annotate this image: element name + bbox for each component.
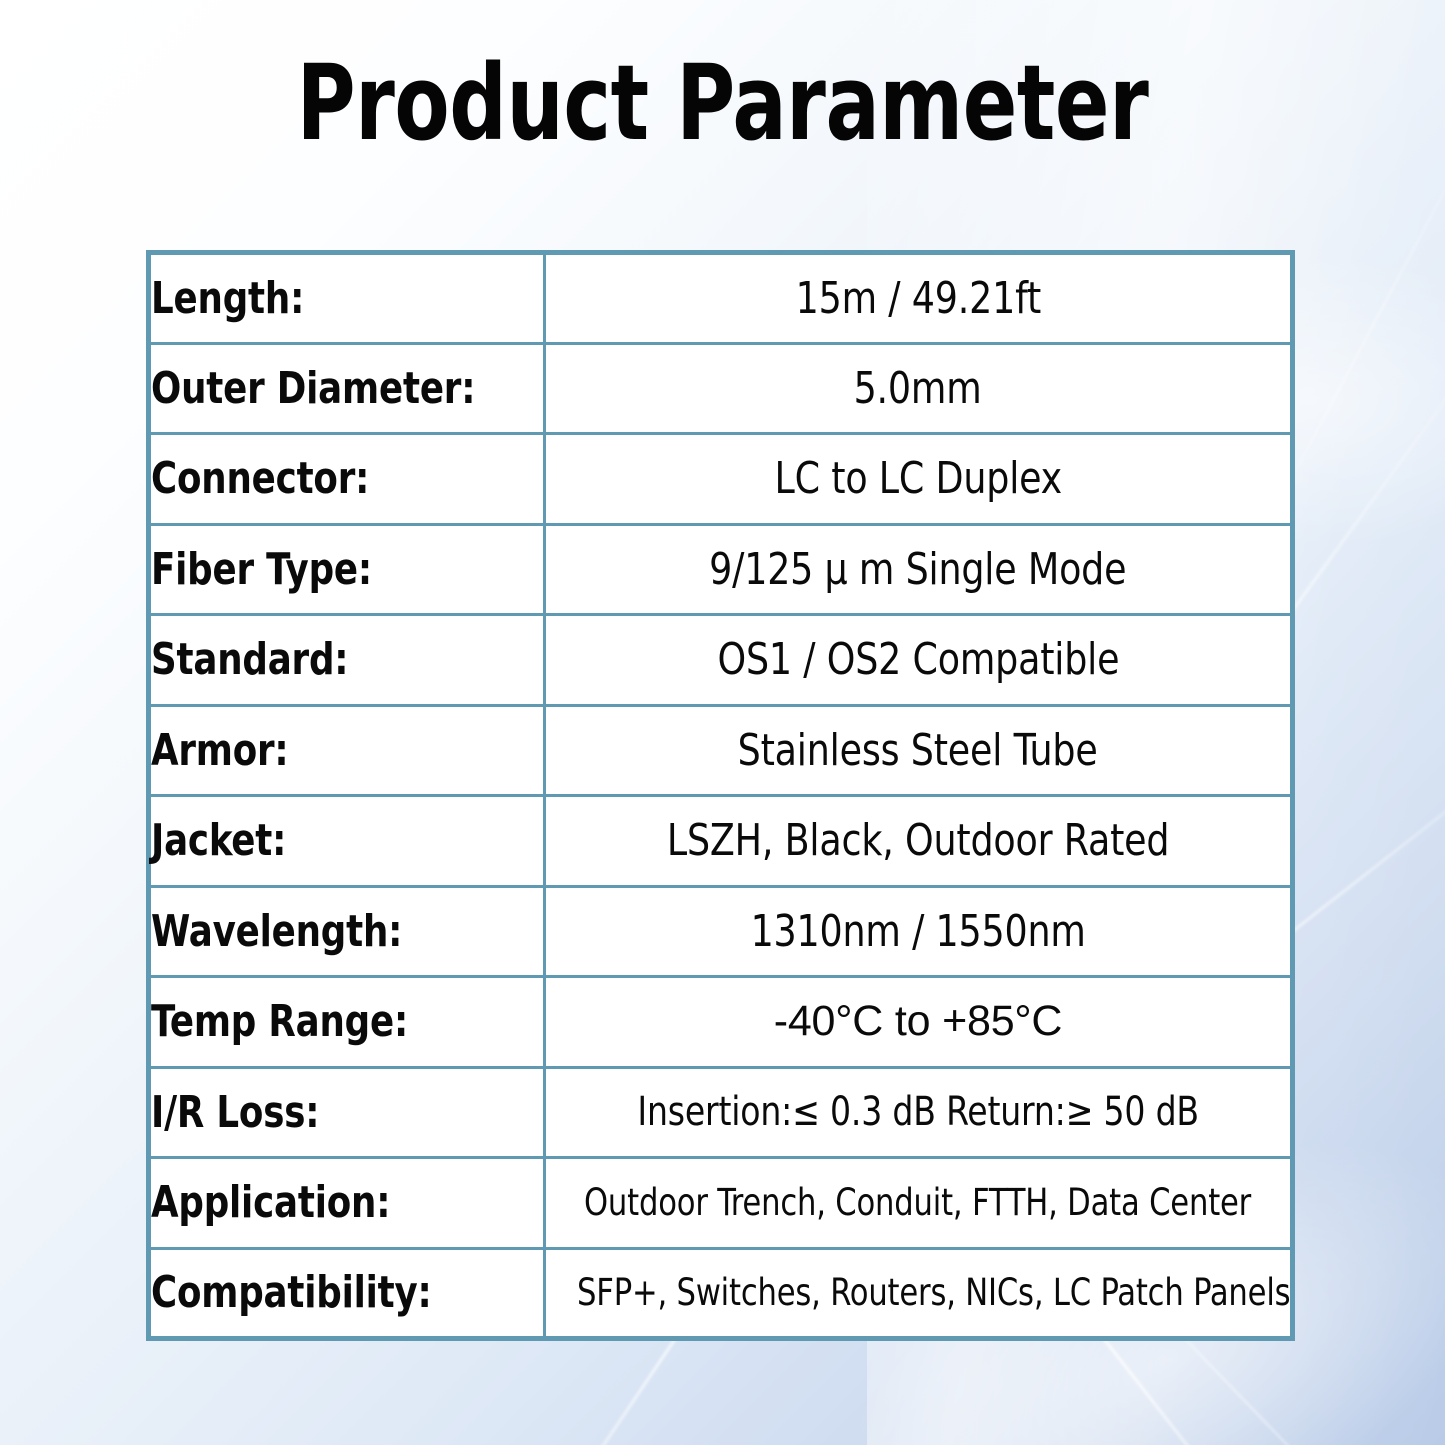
spec-value-cell: SFP+, Switches, Routers, NICs, LC Patch … <box>545 1248 1293 1339</box>
spec-value-text: Stainless Steel Tube <box>738 725 1098 776</box>
spec-label-text: Length: <box>151 273 304 324</box>
spec-label-text: Temp Range: <box>151 996 408 1047</box>
spec-value-cell: 15m / 49.21ft <box>545 253 1293 344</box>
table-row: Wavelength:1310nm / 1550nm <box>149 886 1293 977</box>
product-parameter-table: Length:15m / 49.21ftOuter Diameter:5.0mm… <box>146 250 1295 1341</box>
spec-label-cell: Wavelength: <box>149 886 545 977</box>
table-row: Connector:LC to LC Duplex <box>149 434 1293 525</box>
spec-label-text: Standard: <box>151 634 348 685</box>
spec-label-cell: Armor: <box>149 705 545 796</box>
spec-label-text: I/R Loss: <box>151 1087 319 1138</box>
product-parameter-page: Product Parameter Length:15m / 49.21ftOu… <box>0 0 1445 1445</box>
spec-value-cell: OS1 / OS2 Compatible <box>545 615 1293 706</box>
spec-value-text: 15m / 49.21ft <box>795 273 1040 324</box>
table-row: Length:15m / 49.21ft <box>149 253 1293 344</box>
spec-value-cell: LSZH, Black, Outdoor Rated <box>545 796 1293 887</box>
spec-label-text: Jacket: <box>151 815 286 866</box>
spec-label-cell: Fiber Type: <box>149 524 545 615</box>
table-row: Application:Outdoor Trench, Conduit, FTT… <box>149 1158 1293 1249</box>
spec-value-cell: Stainless Steel Tube <box>545 705 1293 796</box>
spec-label-cell: Standard: <box>149 615 545 706</box>
spec-value-text: LC to LC Duplex <box>774 453 1062 504</box>
spec-value-text: SFP+, Switches, Routers, NICs, LC Patch … <box>577 1271 1290 1314</box>
spec-value-cell: LC to LC Duplex <box>545 434 1293 525</box>
table-row: Armor:Stainless Steel Tube <box>149 705 1293 796</box>
spec-value-cell: 9/125 μ m Single Mode <box>545 524 1293 615</box>
spec-label-text: Compatibility: <box>151 1267 432 1318</box>
spec-label-cell: Temp Range: <box>149 977 545 1068</box>
spec-value-cell: -40°C to +85°C <box>545 977 1293 1068</box>
spec-label-text: Outer Diameter: <box>151 363 475 414</box>
table-row: Standard:OS1 / OS2 Compatible <box>149 615 1293 706</box>
spec-label-cell: Application: <box>149 1158 545 1249</box>
spec-label-text: Armor: <box>151 725 289 776</box>
page-title: Product Parameter <box>101 46 1344 160</box>
table-row: Outer Diameter:5.0mm <box>149 343 1293 434</box>
spec-value-text: LSZH, Black, Outdoor Rated <box>667 815 1170 866</box>
spec-label-text: Connector: <box>151 453 369 504</box>
spec-value-text: 1310nm / 1550nm <box>750 906 1085 957</box>
spec-value-text: -40°C to +85°C <box>774 997 1063 1046</box>
spec-label-cell: Length: <box>149 253 545 344</box>
table-row: Jacket:LSZH, Black, Outdoor Rated <box>149 796 1293 887</box>
spec-label-cell: I/R Loss: <box>149 1067 545 1158</box>
spec-value-text: Outdoor Trench, Conduit, FTTH, Data Cent… <box>584 1181 1251 1224</box>
spec-label-cell: Outer Diameter: <box>149 343 545 434</box>
table-row: I/R Loss:Insertion:≤ 0.3 dB Return:≥ 50 … <box>149 1067 1293 1158</box>
spec-value-cell: 5.0mm <box>545 343 1293 434</box>
spec-label-cell: Compatibility: <box>149 1248 545 1339</box>
spec-value-cell: 1310nm / 1550nm <box>545 886 1293 977</box>
spec-value-text: Insertion:≤ 0.3 dB Return:≥ 50 dB <box>637 1089 1199 1135</box>
spec-label-text: Wavelength: <box>151 906 402 957</box>
table-body: Length:15m / 49.21ftOuter Diameter:5.0mm… <box>149 253 1293 1339</box>
spec-label-text: Fiber Type: <box>151 544 372 595</box>
spec-value-text: OS1 / OS2 Compatible <box>717 634 1119 685</box>
table-row: Temp Range:-40°C to +85°C <box>149 977 1293 1068</box>
spec-value-text: 9/125 μ m Single Mode <box>709 544 1126 595</box>
spec-value-cell: Insertion:≤ 0.3 dB Return:≥ 50 dB <box>545 1067 1293 1158</box>
table-row: Compatibility:SFP+, Switches, Routers, N… <box>149 1248 1293 1339</box>
spec-value-cell: Outdoor Trench, Conduit, FTTH, Data Cent… <box>545 1158 1293 1249</box>
spec-label-text: Application: <box>151 1177 390 1228</box>
spec-label-cell: Connector: <box>149 434 545 525</box>
spec-label-cell: Jacket: <box>149 796 545 887</box>
table-row: Fiber Type:9/125 μ m Single Mode <box>149 524 1293 615</box>
spec-value-text: 5.0mm <box>854 363 982 414</box>
